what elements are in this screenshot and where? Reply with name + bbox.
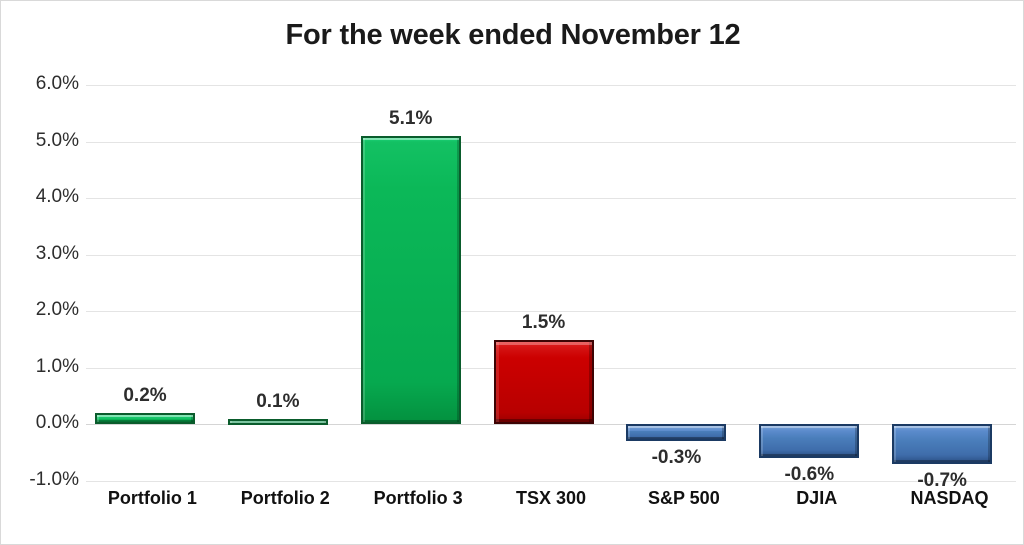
y-axis-tick-label: 5.0% (5, 130, 79, 152)
bar-value-label: 0.1% (219, 391, 337, 413)
bar-group: 0.1% (219, 85, 352, 481)
bar-value-label: 5.1% (352, 108, 470, 130)
bar-value-label: -0.6% (750, 464, 868, 486)
x-axis-tick-label: Portfolio 1 (86, 488, 219, 509)
y-axis-tick-label: 6.0% (5, 73, 79, 95)
bar[interactable] (759, 424, 859, 458)
x-axis-tick-label: Portfolio 3 (352, 488, 485, 509)
plot-area: 0.2%0.1%5.1%1.5%-0.3%-0.6%-0.7% (86, 85, 1016, 481)
bar[interactable] (361, 136, 461, 425)
y-axis-tick-label: -1.0% (5, 469, 79, 491)
bar-group: -0.3% (617, 85, 750, 481)
bar-group: -0.6% (750, 85, 883, 481)
bar-group: 0.2% (86, 85, 219, 481)
y-axis-tick-label: 1.0% (5, 356, 79, 378)
y-axis-tick-label: 3.0% (5, 243, 79, 265)
y-axis-tick-label: 4.0% (5, 186, 79, 208)
y-axis: 6.0%5.0%4.0%3.0%2.0%1.0%0.0%-1.0% (1, 85, 79, 481)
bar[interactable] (626, 424, 726, 441)
bar-group: -0.7% (883, 85, 1016, 481)
gridline (86, 481, 1016, 482)
bar[interactable] (95, 413, 195, 424)
y-axis-tick-label: 0.0% (5, 412, 79, 434)
bar-value-label: 1.5% (485, 312, 603, 334)
bar-value-label: -0.3% (617, 447, 735, 469)
x-axis-tick-label: TSX 300 (485, 488, 618, 509)
x-axis-tick-label: NASDAQ (883, 488, 1016, 509)
bar-value-label: 0.2% (86, 385, 204, 407)
x-axis-tick-label: Portfolio 2 (219, 488, 352, 509)
bar[interactable] (228, 419, 328, 425)
bar-group: 5.1% (352, 85, 485, 481)
x-axis: Portfolio 1Portfolio 2Portfolio 3TSX 300… (86, 488, 1016, 518)
bar[interactable] (892, 424, 992, 464)
bar-chart: For the week ended November 12 6.0%5.0%4… (0, 0, 1024, 545)
x-axis-tick-label: DJIA (750, 488, 883, 509)
chart-title: For the week ended November 12 (1, 19, 1024, 52)
x-axis-tick-label: S&P 500 (617, 488, 750, 509)
y-axis-tick-label: 2.0% (5, 299, 79, 321)
bar-group: 1.5% (485, 85, 618, 481)
bar[interactable] (494, 340, 594, 425)
